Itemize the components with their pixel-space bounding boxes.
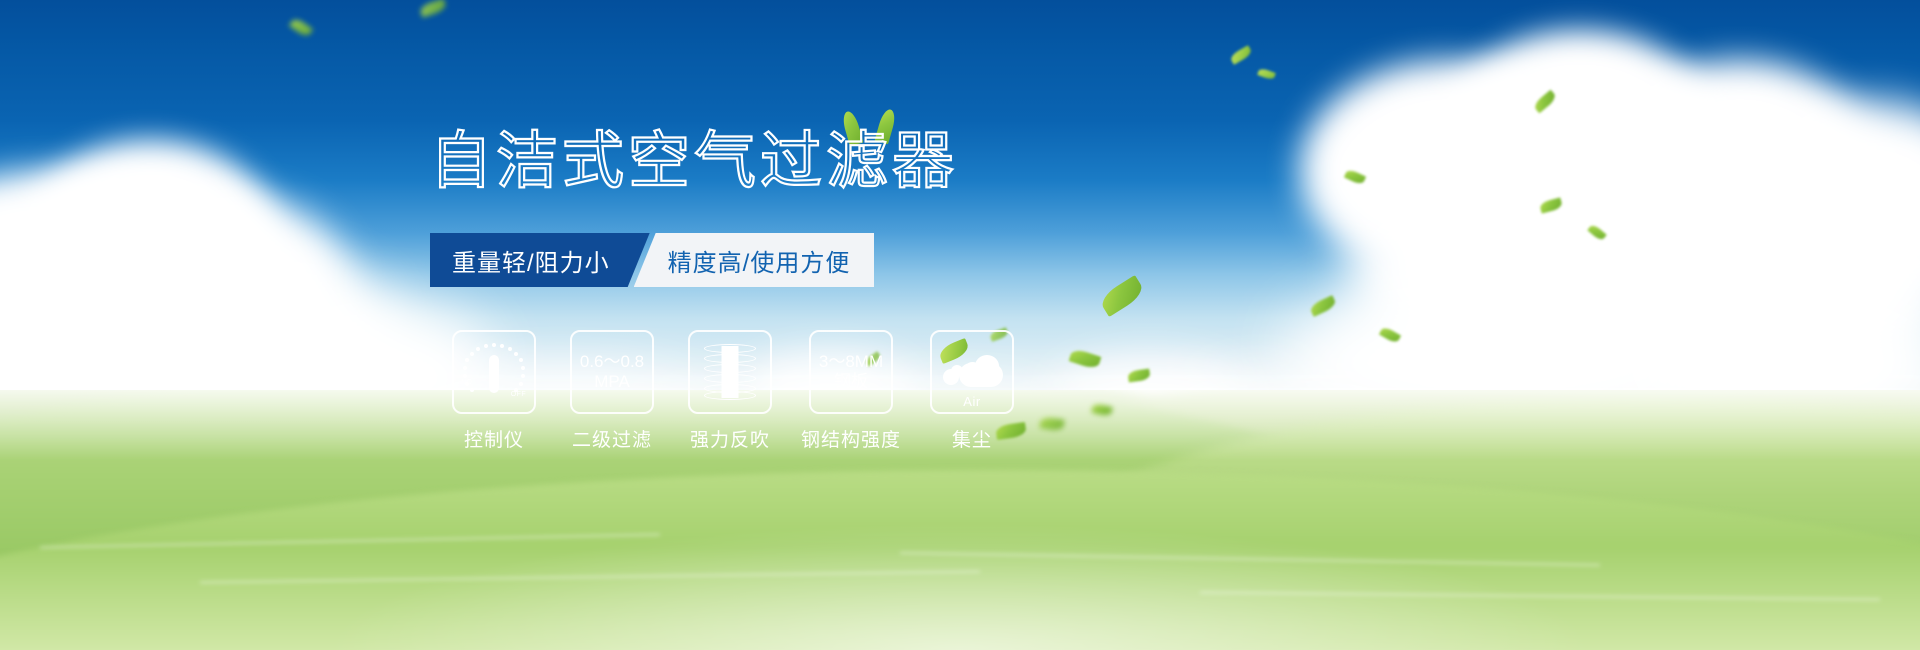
feature-filtration-caption: 二级过滤 [572,425,652,452]
feature-dust-caption: 集尘 [952,425,992,452]
steel-thickness-line2: 钢板 [834,372,868,392]
feature-backblow-caption: 强力反吹 [690,425,770,452]
feature-dust-box: Air [930,330,1014,414]
air-label: Air [963,394,980,409]
page-title: 自洁式空气过滤器 [430,131,958,193]
subtitle-badges: 重量轻/阻力小 精度高/使用方便 [430,233,874,287]
feature-steel-caption: 钢结构强度 [801,425,901,452]
gauge-label-off: OFF [511,391,526,398]
pressure-value-line2: MPA [594,372,630,392]
feature-dust-collection: Air 集尘 [913,330,1031,452]
gauge-icon: NO OFF [463,343,525,401]
feature-steel-box: 3～8MM 钢板 [809,330,893,414]
badge-precision-convenience: 精度高/使用方便 [634,233,875,287]
feature-backblow: 强力反吹 [671,330,789,452]
coil-filter-icon [704,344,756,400]
feature-controller-caption: 控制仪 [464,425,524,452]
steel-thickness-line1: 3～8MM [819,352,883,372]
feature-backblow-box [688,330,772,414]
hero-banner: 自洁式空气过滤器 重量轻/阻力小 精度高/使用方便 [0,0,1920,650]
badge-weight-resistance: 重量轻/阻力小 [430,233,650,287]
pressure-value-line1: 0.6～0.8 [580,352,644,372]
feature-controller: NO OFF 控制仪 [435,330,553,452]
feature-two-stage-filtration: 0.6～0.8 MPA 二级过滤 [553,330,671,452]
gauge-label-no: NO [461,379,472,386]
feature-controller-box: NO OFF [452,330,536,414]
feature-steel-strength: 3～8MM 钢板 钢结构强度 [789,330,913,452]
feature-list: NO OFF 控制仪 0.6～0.8 MPA 二级过滤 [435,330,1031,452]
air-cloud-icon: Air [941,349,1003,395]
feature-pressure-box: 0.6～0.8 MPA [570,330,654,414]
